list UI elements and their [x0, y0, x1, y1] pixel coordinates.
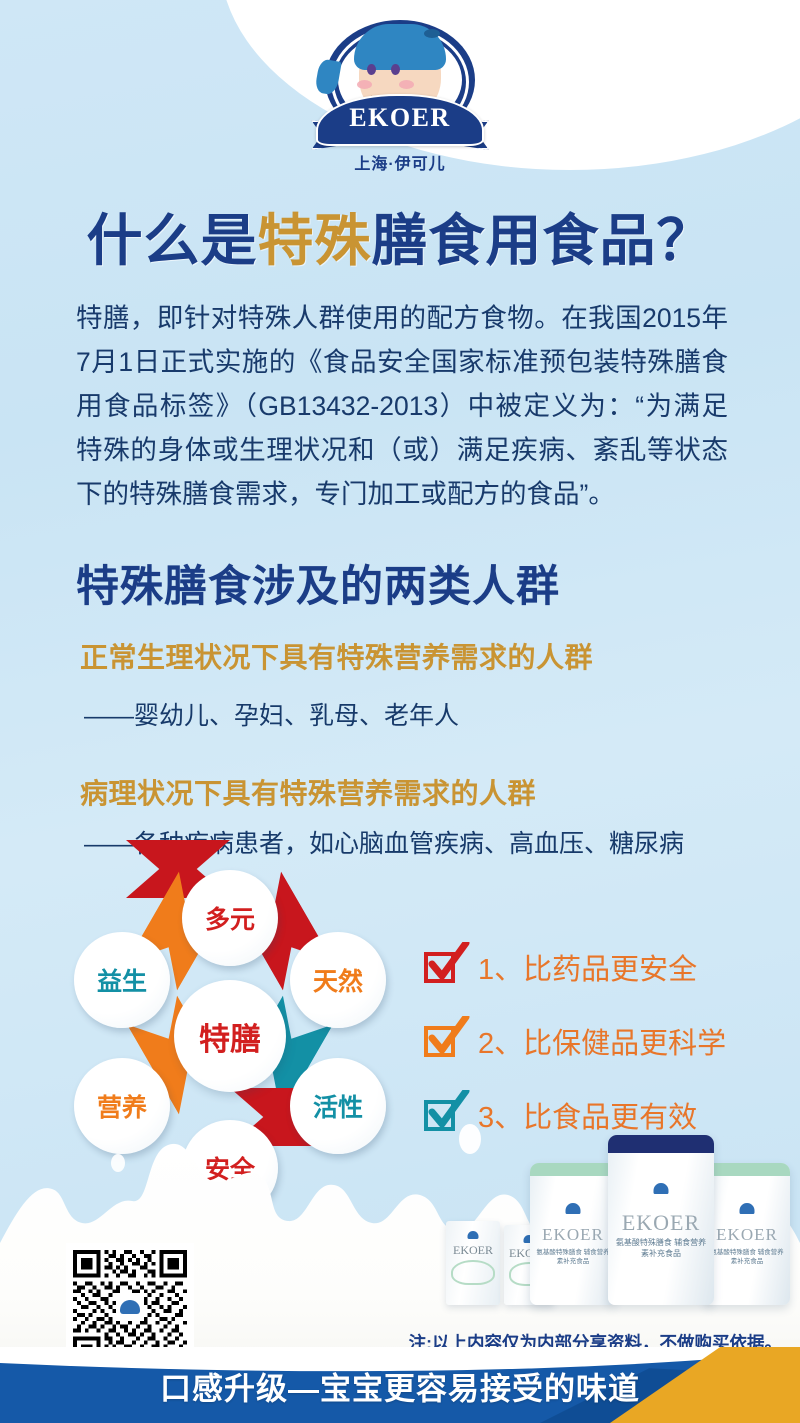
- mascot-blush-left-icon: [357, 80, 372, 89]
- mascot-blush-right-icon: [399, 80, 414, 89]
- poster-root: EKOER 上海·伊可儿 什么是特殊膳食用食品？ 特膳，即针对特殊人群使用的配方…: [0, 0, 800, 1423]
- petal-label: 天然: [313, 962, 363, 998]
- product-can-brand: EKOER: [608, 1210, 714, 1236]
- check-box-icon: [424, 1024, 462, 1058]
- product-logo-icon: [740, 1203, 755, 1214]
- product-can-desc: 氨基酸特殊膳食 辅食营养素补充食品: [612, 1237, 710, 1259]
- page-title-highlight: 特殊: [258, 209, 372, 272]
- petal-label: 多元: [205, 900, 255, 936]
- petal-label: 营养: [97, 1088, 147, 1124]
- benefits-checklist: 1、比药品更安全 2、比保健品更科学 3、比食品更有效: [424, 930, 726, 1152]
- group-subhead-pathological: 病理状况下具有特殊营养需求的人群: [80, 772, 536, 812]
- product-logo-icon: [654, 1183, 669, 1194]
- product-logo-icon: [566, 1203, 581, 1214]
- mascot-eye-right-icon: [391, 64, 400, 75]
- flower-petal-duoyuan: 多元: [182, 870, 278, 966]
- logo-subtitle: 上海·伊可儿: [305, 150, 495, 174]
- check-box-icon: [424, 950, 462, 984]
- checklist-label: 1、比药品更安全: [478, 946, 697, 988]
- petal-label: 活性: [313, 1088, 363, 1124]
- checklist-item: 2、比保健品更科学: [424, 1004, 726, 1078]
- section-heading: 特殊膳食涉及的两类人群: [76, 552, 560, 614]
- flower-center-node: 特膳: [174, 980, 286, 1092]
- page-title: 什么是特殊膳食用食品？: [0, 196, 800, 277]
- page-title-before: 什么是: [87, 209, 258, 272]
- product-can-brand: EKOER: [704, 1225, 790, 1245]
- intro-paragraph: 特膳，即针对特殊人群使用的配方食物。在我国2015年7月1日正式实施的《食品安全…: [76, 296, 728, 516]
- mascot-eye-left-icon: [367, 64, 376, 75]
- checklist-item: 1、比药品更安全: [424, 930, 726, 1004]
- product-box-brand: EKOER: [446, 1243, 500, 1258]
- group-subhead-normal: 正常生理状况下具有特殊营养需求的人群: [80, 636, 593, 676]
- logo-brand-text: EKOER: [349, 103, 450, 133]
- product-box: EKOER: [446, 1221, 500, 1305]
- product-can-desc: 氨基酸特殊膳食 辅食营养素补充食品: [534, 1248, 612, 1266]
- qr-center-logo-icon: [116, 1293, 144, 1321]
- product-can: EKOER 氨基酸特殊膳食 辅食营养素补充食品: [530, 1163, 616, 1305]
- petal-label: 益生: [97, 962, 147, 998]
- product-can: EKOER 氨基酸特殊膳食 辅食营养素补充食品: [704, 1163, 790, 1305]
- product-can-brand: EKOER: [530, 1225, 616, 1245]
- page-title-after: 膳食用食品？: [372, 209, 714, 272]
- product-can-desc: 氨基酸特殊膳食 辅食营养素补充食品: [708, 1248, 786, 1266]
- brand-logo: EKOER 上海·伊可儿: [305, 8, 495, 176]
- footer-slogan: 口感升级—宝宝更容易接受的味道: [0, 1363, 800, 1408]
- group-detail-normal: ——婴幼儿、孕妇、乳母、老年人: [84, 696, 459, 732]
- flower-petal-tianran: 天然: [290, 932, 386, 1028]
- product-can-main: EKOER 氨基酸特殊膳食 辅食营养素补充食品: [608, 1135, 714, 1305]
- checklist-label: 2、比保健品更科学: [478, 1020, 726, 1062]
- flower-petal-yisheng: 益生: [74, 932, 170, 1028]
- footer-banner: 口感升级—宝宝更容易接受的味道: [0, 1347, 800, 1423]
- mascot-cap-icon: [354, 24, 446, 70]
- product-logo-icon: [468, 1231, 479, 1239]
- product-lineup-image: EKOER EKOER EKOER 氨基酸特殊膳食 辅食营养素补充食品 EKOE…: [422, 1126, 792, 1311]
